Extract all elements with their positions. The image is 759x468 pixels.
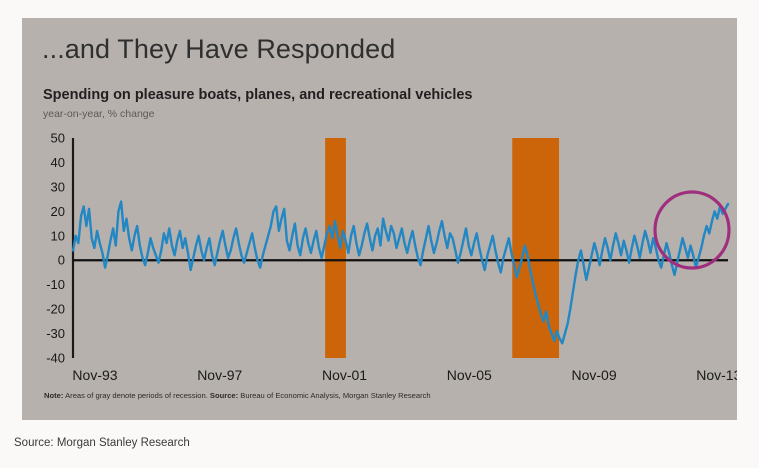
y-axis-tick-label: -10 (46, 277, 65, 292)
y-axis-tick-label: -20 (46, 302, 65, 317)
footnote-note-text: Areas of gray denote periods of recessio… (63, 391, 209, 400)
y-axis-tick-label: 40 (51, 155, 65, 170)
y-axis-tick-label: -30 (46, 326, 65, 341)
y-axis-ticks: 50403020100-10-20-30-40 (46, 131, 65, 366)
footnote-source-text: Bureau of Economic Analysis, Morgan Stan… (238, 391, 430, 400)
y-axis-tick-label: 20 (51, 204, 65, 219)
footnote-source-label: Source: (210, 391, 238, 400)
footnote-note-label: Note: (44, 391, 63, 400)
x-axis-ticks: Nov-93Nov-97Nov-01Nov-05Nov-09Nov-13 (72, 367, 737, 383)
y-axis-tick-label: 50 (51, 131, 65, 146)
x-axis-tick-label: Nov-97 (197, 367, 242, 383)
y-axis-tick-label: -40 (46, 351, 65, 366)
y-axis-tick-label: 10 (51, 228, 65, 243)
recession-band (325, 138, 346, 358)
chart-svg: 50403020100-10-20-30-40 Nov-93Nov-97Nov-… (22, 18, 737, 420)
y-axis-tick-label: 30 (51, 179, 65, 194)
annotation-layer (655, 192, 729, 268)
recession-band (512, 138, 559, 358)
slide-canvas: ...and They Have Responded Spending on p… (22, 18, 737, 420)
highlight-circle (655, 192, 729, 268)
x-axis-tick-label: Nov-01 (322, 367, 367, 383)
chart-footnote: Note: Areas of gray denote periods of re… (44, 391, 431, 400)
x-axis-tick-label: Nov-13 (696, 367, 737, 383)
x-axis-tick-label: Nov-09 (571, 367, 616, 383)
y-axis-tick-label: 0 (58, 253, 65, 268)
x-axis-tick-label: Nov-93 (72, 367, 117, 383)
slide-source-line: Source: Morgan Stanley Research (14, 437, 190, 449)
data-series-line (73, 202, 728, 344)
x-axis-tick-label: Nov-05 (447, 367, 492, 383)
chart-plot-area: 50403020100-10-20-30-40 Nov-93Nov-97Nov-… (22, 18, 737, 420)
